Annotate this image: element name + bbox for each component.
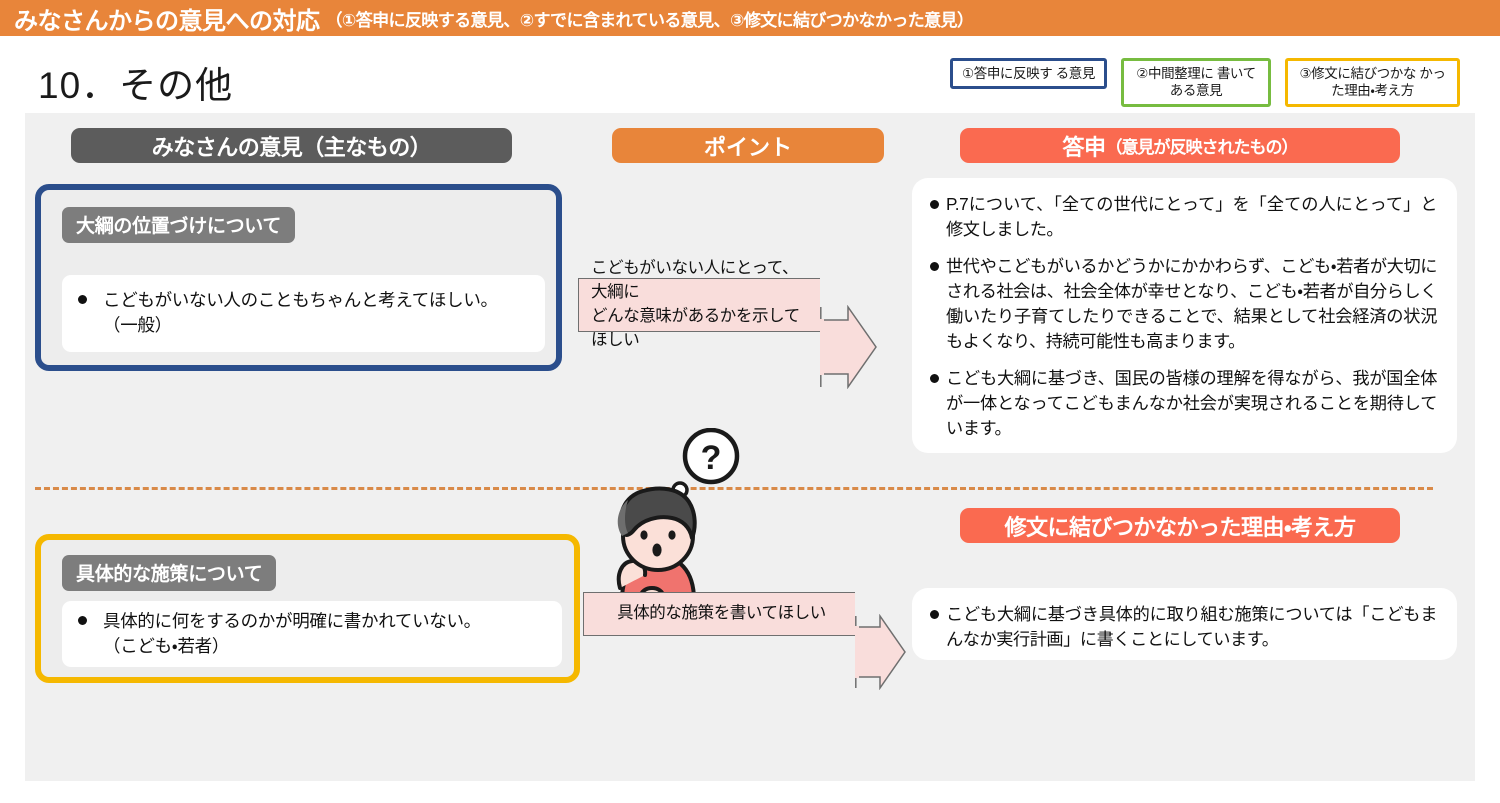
list-item: こどもがいない人のこともちゃんと考えてほしい。 （一般）	[74, 288, 535, 338]
legend-item-label: ③修文に結びつかな かった理由・考え方	[1299, 66, 1445, 98]
point-arrow-body: こどもがいない人にとって、大綱に どんな意味があるかを示してほしい	[578, 278, 820, 332]
answer-text: こども大綱に基づき具体的に取り組む施策については「こどもまんなか実行計画」に書く…	[946, 602, 1437, 653]
list-item: 具体的に何をするのかが明確に書かれていない。 （こども・若者）	[74, 609, 552, 659]
answer-card-taiko-positioning: P.7について、「全ての世代にとって」を「全ての人にとって」と修文しました。 世…	[912, 178, 1457, 453]
legend-item-already-in-interim: ②中間整理に 書いてある意見	[1121, 58, 1271, 107]
column-header-opinions-label: みなさんの意見（主なもの）	[152, 130, 432, 162]
legend-item-label: ①答申に反映す る意見	[962, 66, 1095, 81]
opinion-text: こどもがいない人のこともちゃんと考えてほしい。 （一般）	[103, 288, 498, 338]
point-text: 具体的な施策を書いてほしい	[617, 602, 826, 626]
opinion-card-concrete-measures: 具体的な施策について 具体的に何をするのかが明確に書かれていない。 （こども・若…	[35, 534, 580, 683]
point-arrow-concrete-measures: 具体的な施策を書いてほしい	[583, 592, 855, 636]
list-item: 世代やこどもがいるかどうかにかかわらず、こども・若者が大切にされる社会は、社会全…	[930, 254, 1437, 355]
answer-text: 世代やこどもがいるかどうかにかかわらず、こども・若者が大切にされる社会は、社会全…	[946, 254, 1437, 355]
answer-text: こども大綱に基づき、国民の皆様の理解を得ながら、我が国全体が一体となってこどもま…	[946, 366, 1437, 442]
opinion-text: 具体的に何をするのかが明確に書かれていない。 （こども・若者）	[103, 609, 481, 659]
legend-item-reflected-in-answer: ①答申に反映す る意見	[950, 58, 1107, 89]
legend: ①答申に反映す る意見 ②中間整理に 書いてある意見 ③修文に結びつかな かった…	[950, 58, 1460, 107]
bullet-dot-icon	[930, 610, 939, 619]
column-header-answer-label: 答申	[1062, 130, 1105, 162]
column-header-opinions: みなさんの意見（主なもの）	[71, 128, 512, 163]
bullet-dot-icon	[930, 200, 939, 209]
opinion-card-tag: 具体的な施策について	[62, 555, 276, 591]
banner-title: みなさんからの意見への対応	[14, 1, 320, 36]
column-header-point: ポイント	[612, 128, 884, 163]
bullet-dot-icon	[78, 616, 87, 625]
opinion-card-inner: 大綱の位置づけについて こどもがいない人のこともちゃんと考えてほしい。 （一般）	[46, 195, 551, 360]
answer-card-concrete-measures: こども大綱に基づき具体的に取り組む施策については「こどもまんなか実行計画」に書く…	[912, 588, 1457, 660]
answer-text: P.7について、「全ての世代にとって」を「全ての人にとって」と修文しました。	[946, 192, 1437, 243]
list-item: P.7について、「全ての世代にとって」を「全ての人にとって」と修文しました。	[930, 192, 1437, 243]
point-arrow-body: 具体的な施策を書いてほしい	[583, 592, 855, 636]
bullet-dot-icon	[78, 295, 87, 304]
bullet-dot-icon	[930, 262, 939, 271]
column-header-answer: 答申 （意見が反映されたもの）	[960, 128, 1400, 163]
opinion-card-tag: 大綱の位置づけについて	[62, 207, 295, 243]
point-text: こどもがいない人にとって、大綱に どんな意味があるかを示してほしい	[591, 257, 812, 353]
opinion-card-body: 具体的に何をするのかが明確に書かれていない。 （こども・若者）	[62, 601, 562, 667]
page-banner: みなさんからの意見への対応 （①答申に反映する意見、②すでに含まれている意見、③…	[0, 0, 1500, 36]
point-arrow-taiko-positioning: こどもがいない人にとって、大綱に どんな意味があるかを示してほしい	[578, 278, 820, 332]
list-item: こども大綱に基づき、国民の皆様の理解を得ながら、我が国全体が一体となってこどもま…	[930, 366, 1437, 442]
page-title: 10．その他	[38, 55, 233, 109]
opinion-card-taiko-positioning: 大綱の位置づけについて こどもがいない人のこともちゃんと考えてほしい。 （一般）	[35, 184, 562, 371]
column-header-reason: 修文に結びつかなかった理由・考え方	[960, 508, 1400, 543]
svg-text:?: ?	[701, 439, 722, 477]
column-header-point-label: ポイント	[704, 130, 792, 162]
column-header-answer-sublabel: （意見が反映されたもの）	[1106, 133, 1298, 158]
bullet-dot-icon	[930, 374, 939, 383]
opinion-card-inner: 具体的な施策について 具体的に何をするのかが明確に書かれていない。 （こども・若…	[46, 545, 569, 672]
column-header-reason-label: 修文に結びつかなかった理由・考え方	[1005, 510, 1356, 542]
legend-item-label: ②中間整理に 書いてある意見	[1136, 66, 1255, 98]
legend-item-not-revised-reason: ③修文に結びつかな かった理由・考え方	[1285, 58, 1460, 107]
list-item: こども大綱に基づき具体的に取り組む施策については「こどもまんなか実行計画」に書く…	[930, 602, 1437, 653]
opinion-card-body: こどもがいない人のこともちゃんと考えてほしい。 （一般）	[62, 275, 545, 352]
banner-subtitle: （①答申に反映する意見、②すでに含まれている意見、③修文に結びつかなかった意見）	[326, 6, 974, 31]
thinking-child-illustration: ?	[596, 428, 766, 600]
